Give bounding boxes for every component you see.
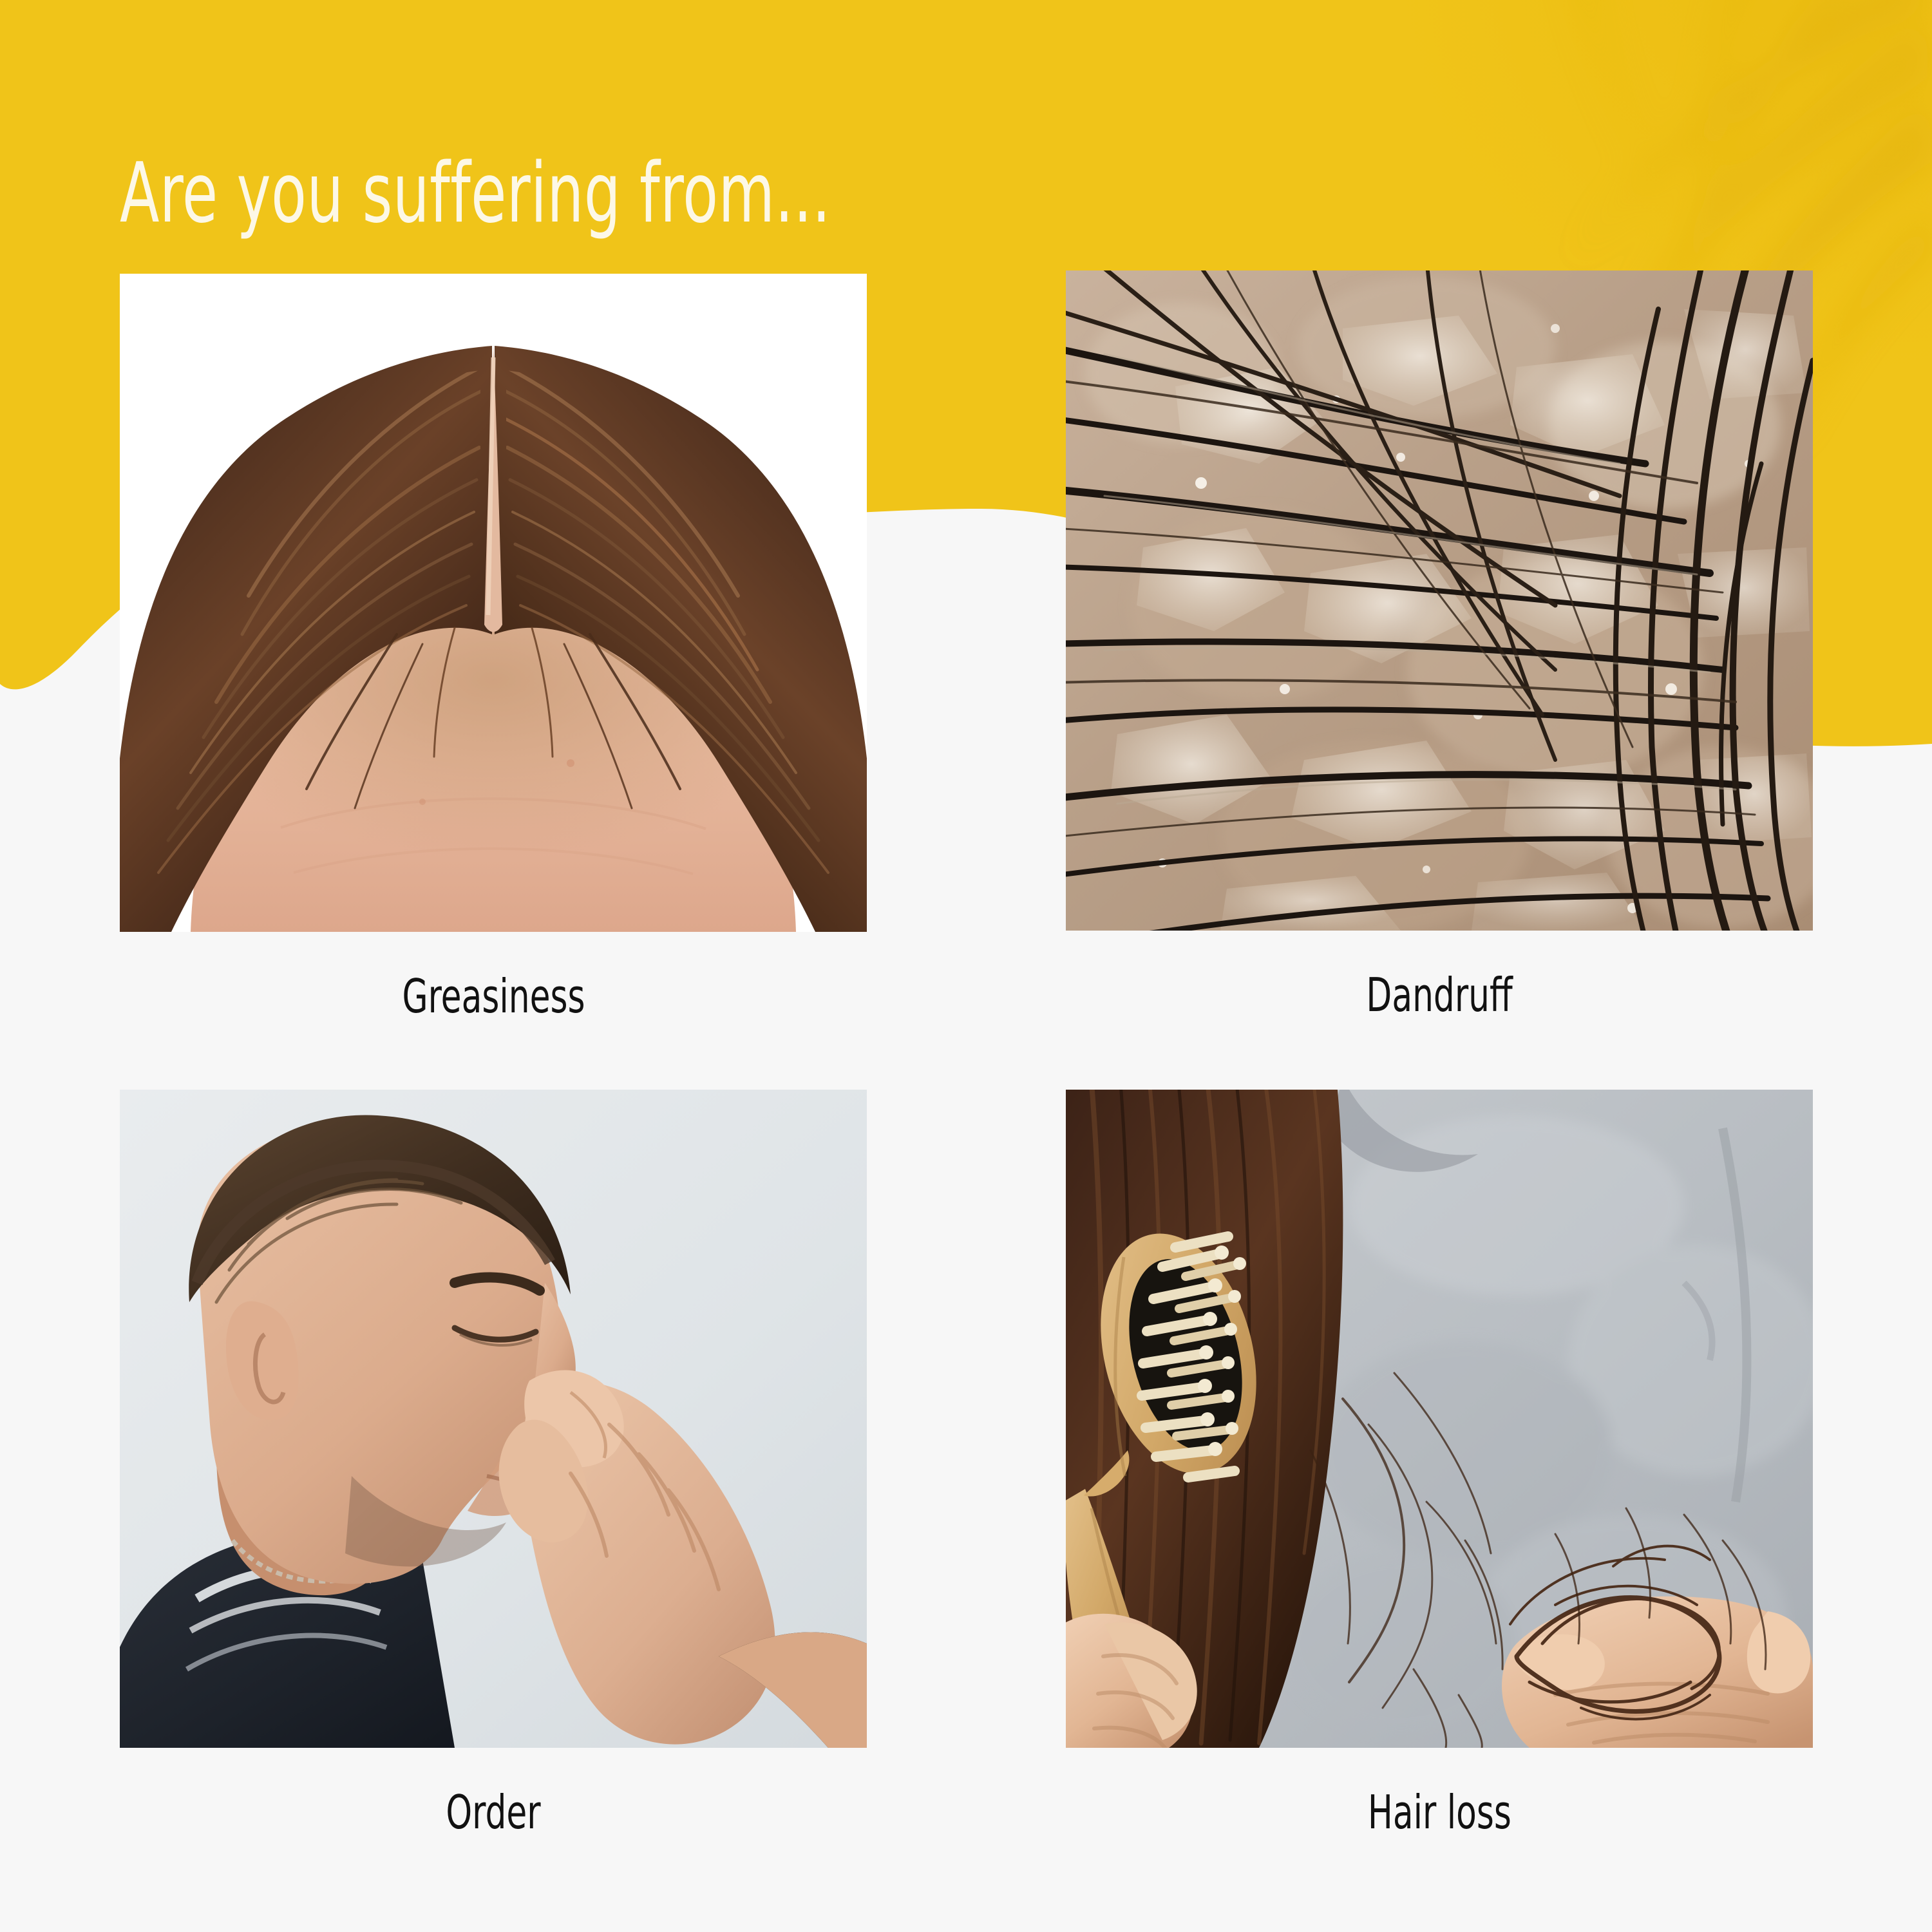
card-caption-hairloss: Hair loss xyxy=(1066,1785,1813,1839)
symptom-grid: Greasiness xyxy=(0,0,1932,1932)
hair-loss-photo xyxy=(1066,1090,1813,1748)
dandruff-scalp-macro-photo xyxy=(1066,270,1813,931)
greasy-scalp-photo xyxy=(120,274,867,932)
page-title: Are you suffering from... xyxy=(120,146,831,241)
card-caption-order: Order xyxy=(120,1785,867,1839)
card-caption-dandruff: Dandruff xyxy=(1066,968,1813,1022)
bad-odor-photo xyxy=(120,1090,867,1748)
poster-canvas: Are you suffering from... xyxy=(0,0,1932,1932)
card-caption-greasiness: Greasiness xyxy=(120,969,867,1023)
